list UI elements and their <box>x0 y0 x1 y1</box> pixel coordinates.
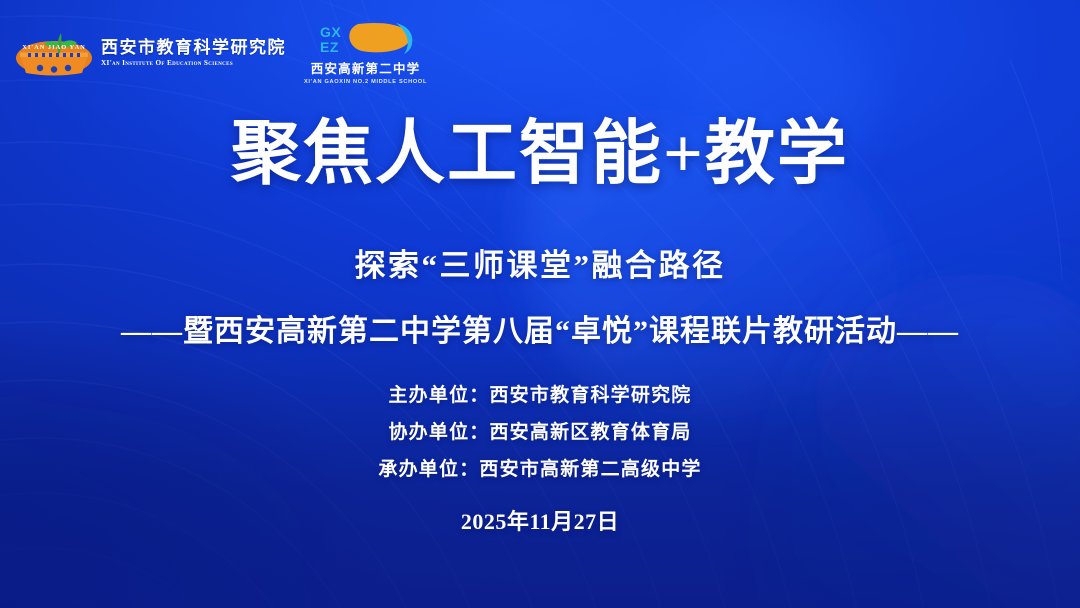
organizer-co-host: 协办单位：西安高新区教育体育局 <box>0 423 1080 442</box>
organizer-list: 主办单位：西安市教育科学研究院 协办单位：西安高新区教育体育局 承办单位：西安市… <box>0 386 1080 497</box>
subtitle-secondary: ——暨西安高新第二中学第八届“卓悦”课程联片教研活动—— <box>0 306 1080 350</box>
gxez-monogram-logo-icon: GX EZ <box>318 22 414 56</box>
logo2-name-en: XI'AN GAOXIN NO.2 MIDDLE SCHOOL <box>304 79 427 85</box>
sprout-in-pot-logo-icon: XI'AN JIAO YAN <box>14 31 94 77</box>
logo-text-block: 西安市教育科学研究院 XI'an Institute Of Education … <box>101 39 286 67</box>
svg-text:EZ: EZ <box>320 39 339 55</box>
subtitle-primary: 探索“三师课堂”融合路径 <box>0 240 1080 285</box>
logo-bar: XI'AN JIAO YAN 西安市教育科学研究院 XI'an Institut… <box>14 22 427 85</box>
logo-name-en: XI'an Institute Of Education Sciences <box>101 60 286 67</box>
logo-xian-institute-of-education-sciences: XI'AN JIAO YAN 西安市教育科学研究院 XI'an Institut… <box>14 31 286 77</box>
logo-xian-gaoxin-no2-middle-school: GX EZ 西安高新第二中学 XI'AN GAOXIN NO.2 MIDDLE … <box>304 22 427 85</box>
svg-text:GX: GX <box>320 24 341 40</box>
logo2-name-cn: 西安高新第二中学 <box>311 58 421 77</box>
event-poster: XI'AN JIAO YAN 西安市教育科学研究院 XI'an Institut… <box>0 0 1080 608</box>
organizer-undertaker: 承办单位：西安市高新第二高级中学 <box>0 460 1080 479</box>
svg-text:XI'AN JIAO YAN: XI'AN JIAO YAN <box>22 44 86 51</box>
logo-name-cn: 西安市教育科学研究院 <box>101 39 286 56</box>
main-title: 聚焦人工智能+教学 <box>0 97 1080 198</box>
event-date: 2025年11月27日 <box>0 504 1080 536</box>
organizer-host: 主办单位：西安市教育科学研究院 <box>0 386 1080 405</box>
